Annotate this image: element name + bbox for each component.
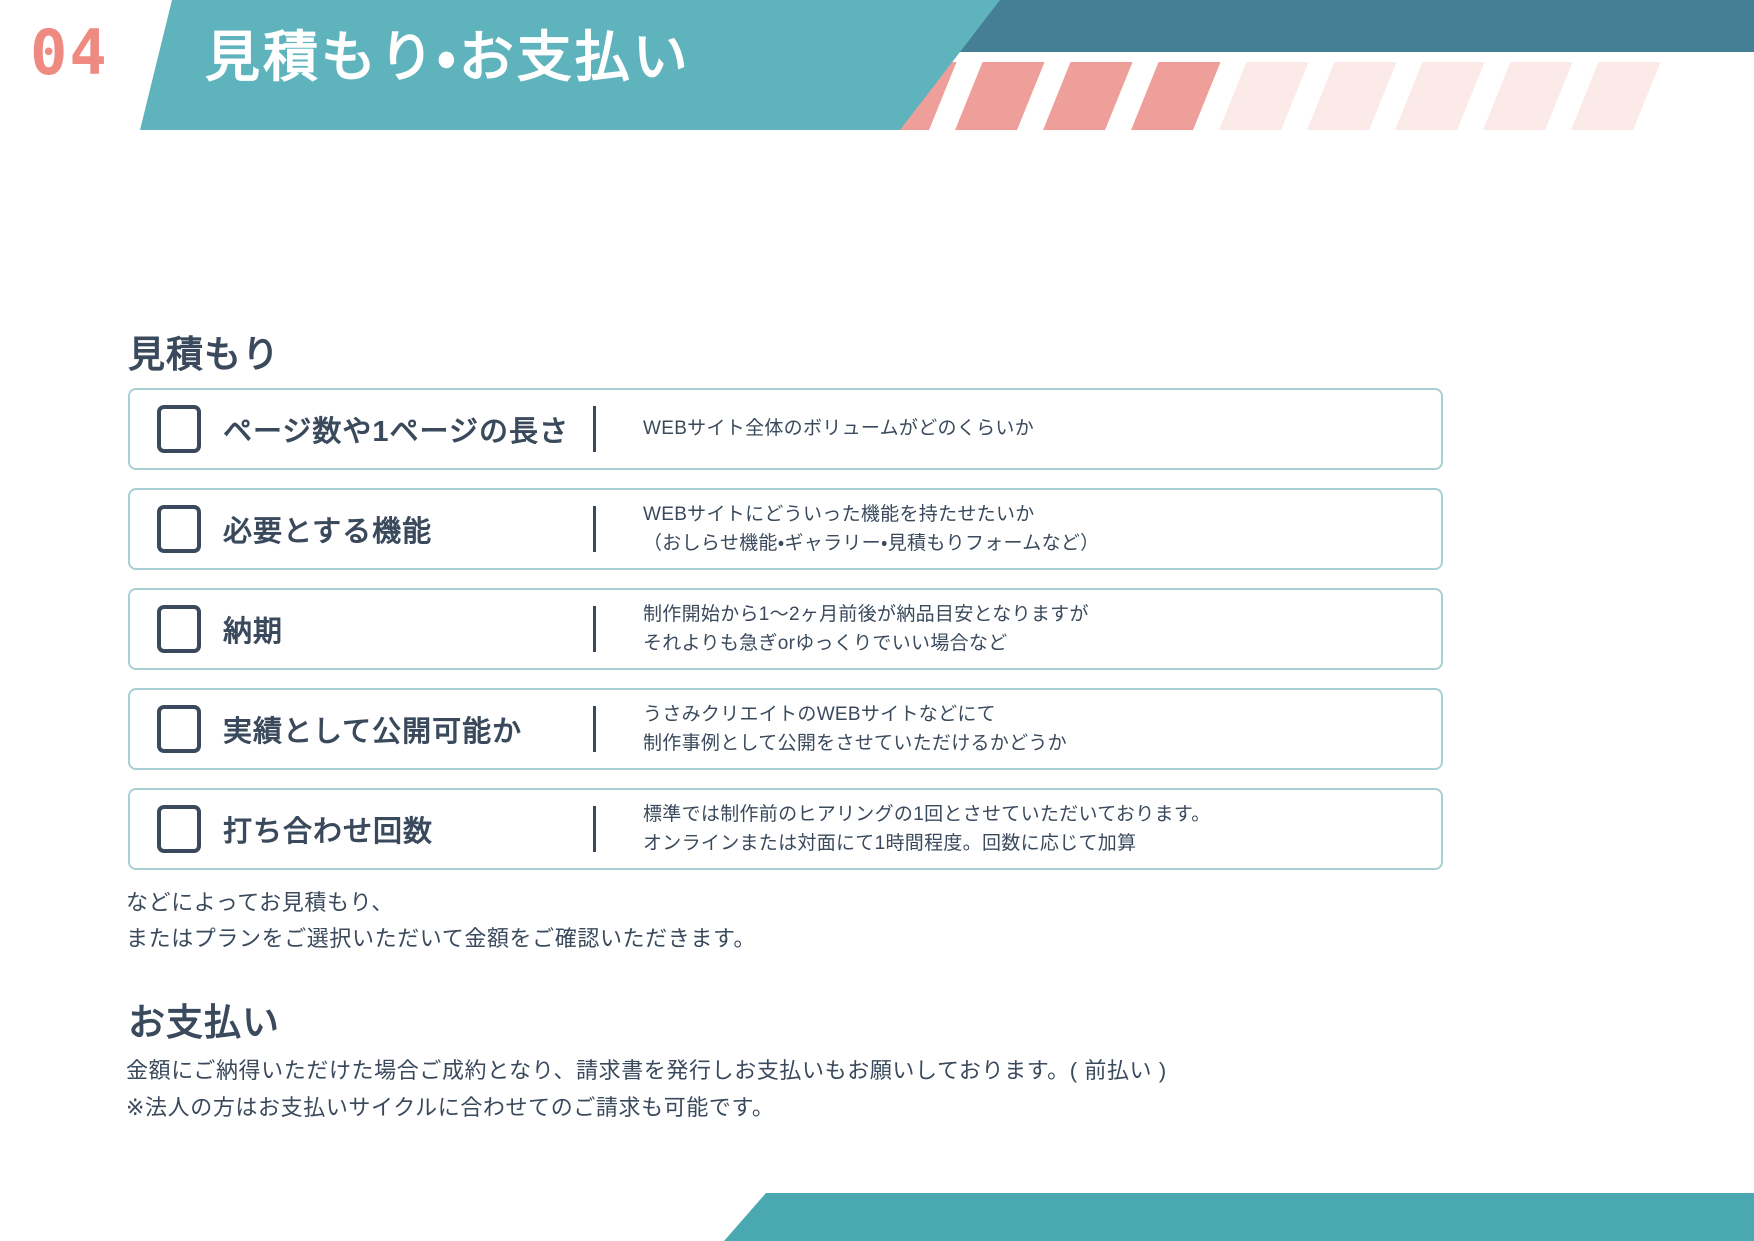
checklist-item-description: WEBサイトにどういった機能を持たせたいか（おしらせ機能・ギャラリー・見積もりフ… xyxy=(643,500,1441,559)
payment-line-1: 金額にご納得いただけた場合ご成約となり、請求書を発行しお支払いもお願いしておりま… xyxy=(126,1052,1167,1089)
checklist-item[interactable]: 必要とする機能WEBサイトにどういった機能を持たせたいか（おしらせ機能・ギャラリ… xyxy=(128,488,1443,570)
page-footer xyxy=(0,1193,1754,1241)
header-stripe xyxy=(1304,62,1398,130)
estimate-note: などによってお見積もり、 またはプランをご選択いただいて金額をご確認いただきます… xyxy=(126,885,756,958)
checklist-item-description: WEBサイト全体のボリュームがどのくらいか xyxy=(643,414,1441,443)
checklist-item-description-line: オンラインまたは対面にて1時間程度。回数に応じて加算 xyxy=(643,829,1441,858)
checkbox-empty-icon[interactable] xyxy=(157,605,201,653)
header-stripe xyxy=(1040,62,1134,130)
header-stripe xyxy=(1568,62,1662,130)
checklist-item-title: 必要とする機能 xyxy=(223,508,583,550)
estimate-note-line-2: またはプランをご選択いただいて金額をご確認いただきます。 xyxy=(126,921,756,957)
checklist-item-description: 制作開始から1〜2ヶ月前後が納品目安となりますがそれよりも急ぎorゆっくりでいい… xyxy=(643,600,1441,659)
checklist-item-title: 納期 xyxy=(223,608,583,650)
header-stripe xyxy=(1128,62,1222,130)
page-header: 04 見積もり・お支払い xyxy=(0,0,1754,130)
checklist-item-description-line: WEBサイトにどういった機能を持たせたいか xyxy=(643,500,1441,529)
checklist-item-description: 標準では制作前のヒアリングの1回とさせていただいております。オンラインまたは対面… xyxy=(643,800,1441,859)
checkbox-empty-icon[interactable] xyxy=(157,705,201,753)
estimate-note-line-1: などによってお見積もり、 xyxy=(126,885,756,921)
payment-body: 金額にご納得いただけた場合ご成約となり、請求書を発行しお支払いもお願いしておりま… xyxy=(126,1052,1167,1127)
footer-teal-shape xyxy=(724,1193,1754,1241)
checklist-item[interactable]: 実績として公開可能かうさみクリエイトのWEBサイトなどにて制作事例として公開をさ… xyxy=(128,688,1443,770)
checklist-item-description-line: それよりも急ぎorゆっくりでいい場合など xyxy=(643,629,1441,658)
checklist-item-title: ページ数や1ページの長さ xyxy=(223,408,583,450)
header-stripe xyxy=(1216,62,1310,130)
estimate-heading: 見積もり xyxy=(128,324,280,378)
header-stripe xyxy=(952,62,1046,130)
payment-line-2: ※法人の方はお支払いサイクルに合わせてのご請求も可能です。 xyxy=(126,1089,1167,1126)
checklist-item-description-line: 制作事例として公開をさせていただけるかどうか xyxy=(643,729,1441,758)
checklist-item-description: うさみクリエイトのWEBサイトなどにて制作事例として公開をさせていただけるかどう… xyxy=(643,700,1441,759)
checklist-item-description-line: WEBサイト全体のボリュームがどのくらいか xyxy=(643,414,1441,443)
checklist-item-description-line: 標準では制作前のヒアリングの1回とさせていただいております。 xyxy=(643,800,1441,829)
checklist-group: ページ数や1ページの長さWEBサイト全体のボリュームがどのくらいか必要とする機能… xyxy=(128,388,1443,888)
checklist-item-description-line: （おしらせ機能・ギャラリー・見積もりフォームなど） xyxy=(643,529,1441,558)
checklist-item[interactable]: 納期制作開始から1〜2ヶ月前後が納品目安となりますがそれよりも急ぎorゆっくりで… xyxy=(128,588,1443,670)
vertical-divider xyxy=(593,506,596,552)
header-stripe xyxy=(1480,62,1574,130)
checklist-item-description-line: 制作開始から1〜2ヶ月前後が納品目安となりますが xyxy=(643,600,1441,629)
checkbox-empty-icon[interactable] xyxy=(157,405,201,453)
header-stripe xyxy=(1392,62,1486,130)
vertical-divider xyxy=(593,806,596,852)
checklist-item-title: 実績として公開可能か xyxy=(223,708,583,750)
checklist-item-description-line: うさみクリエイトのWEBサイトなどにて xyxy=(643,700,1441,729)
page-title: 見積もり・お支払い xyxy=(205,24,691,90)
payment-heading: お支払い xyxy=(128,992,280,1046)
vertical-divider xyxy=(593,406,596,452)
checkbox-empty-icon[interactable] xyxy=(157,805,201,853)
vertical-divider xyxy=(593,706,596,752)
header-stripe-group xyxy=(880,62,1754,130)
vertical-divider xyxy=(593,606,596,652)
checklist-item-title: 打ち合わせ回数 xyxy=(223,808,583,850)
checklist-item[interactable]: ページ数や1ページの長さWEBサイト全体のボリュームがどのくらいか xyxy=(128,388,1443,470)
checklist-item[interactable]: 打ち合わせ回数標準では制作前のヒアリングの1回とさせていただいております。オンラ… xyxy=(128,788,1443,870)
section-number: 04 xyxy=(30,22,109,84)
checkbox-empty-icon[interactable] xyxy=(157,505,201,553)
